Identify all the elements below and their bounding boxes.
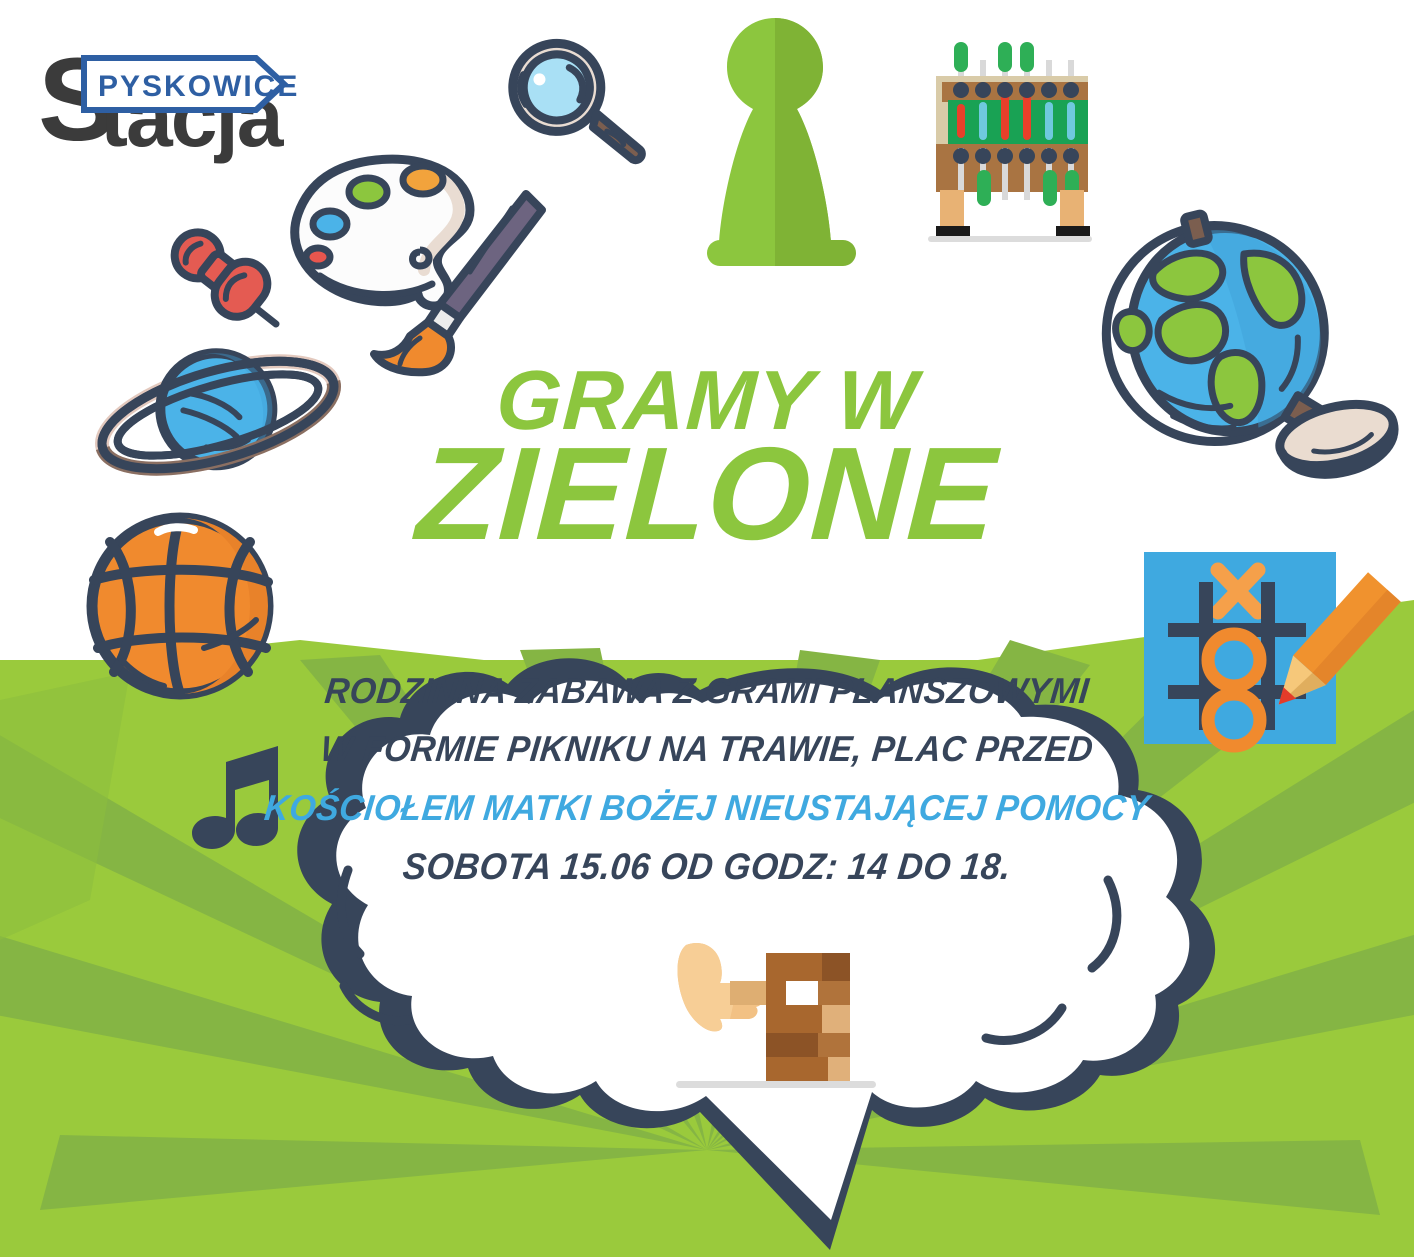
logo-sign-text: PYSKOWICE xyxy=(98,70,298,103)
jenga-blocks-icon xyxy=(668,935,883,1090)
body-line-1: RODZINNA ZABAWA Z GRAMI PLANSZOWYMI xyxy=(39,662,1374,720)
poster-body-text: RODZINNA ZABAWA Z GRAMI PLANSZOWYMI W FO… xyxy=(0,662,1414,897)
poster-root: S tacja PYSKOWICE xyxy=(0,0,1414,1257)
body-line-3-location: KOŚCIOŁEM MATKI BOŻEJ NIEUSTAJĄCEJ POMOC… xyxy=(39,779,1374,837)
pushpin-icon xyxy=(160,220,285,338)
body-line-4-datetime: SOBOTA 15.06 OD GODZ: 14 DO 18. xyxy=(39,837,1374,897)
body-line-2: W FORMIE PIKNIKU NA TRAWIE, PLAC PRZED xyxy=(39,720,1374,778)
globe-icon xyxy=(1095,205,1365,505)
chess-pawn-icon xyxy=(690,0,860,280)
organizer-logo[interactable]: S tacja PYSKOWICE xyxy=(38,36,298,164)
planet-saturn-icon xyxy=(88,335,353,495)
foosball-table-icon xyxy=(918,32,1098,244)
